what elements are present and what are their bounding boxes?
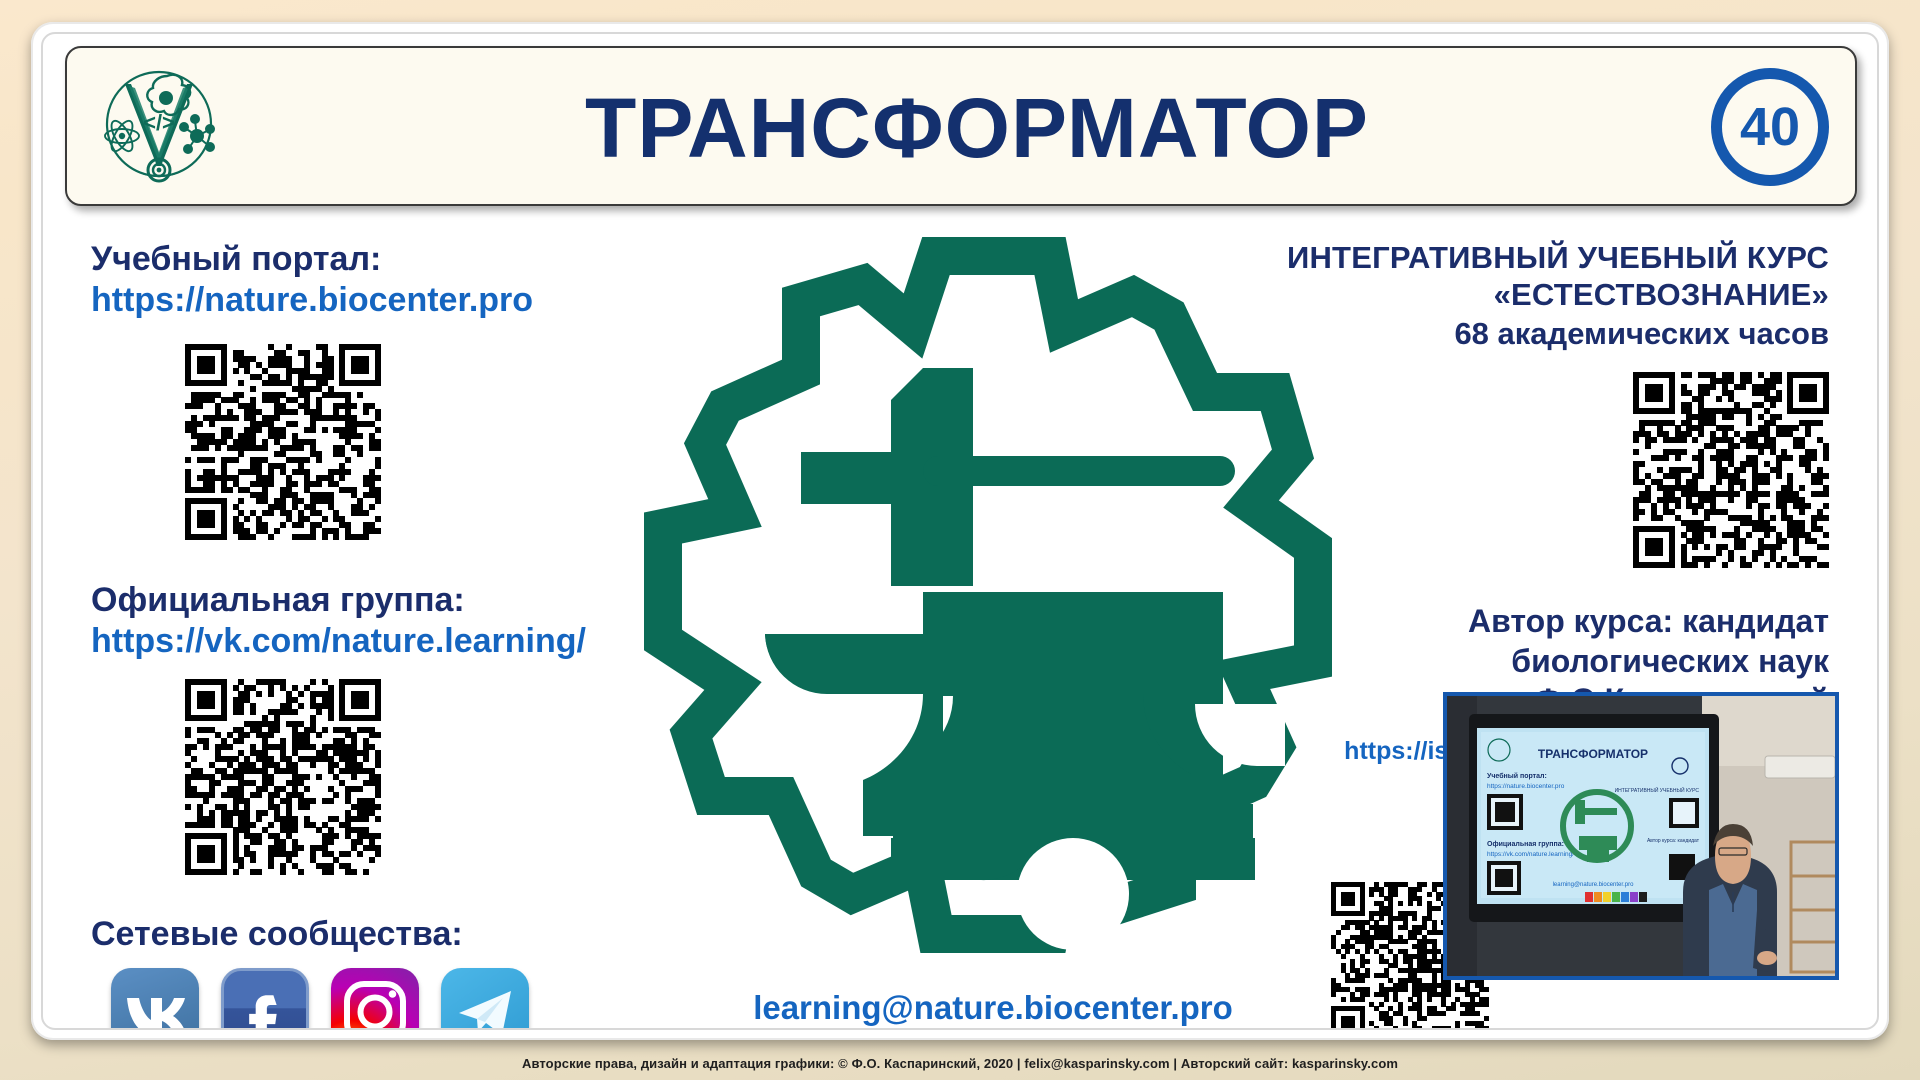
svg-text:Автор курса: кандидат: Автор курса: кандидат xyxy=(1647,838,1700,844)
lesson-number-badge: 40 xyxy=(1711,68,1829,186)
qr-code-portal[interactable] xyxy=(185,344,381,540)
left-column: Учебный портал: https://nature.biocenter… xyxy=(91,239,611,1030)
group-block: Официальная группа: https://vk.com/natur… xyxy=(91,580,611,875)
svg-text:https://vk.com/nature.learning: https://vk.com/nature.learning/ xyxy=(1487,851,1574,858)
instagram-icon[interactable] xyxy=(331,968,419,1030)
author-line-1: Автор курса: кандидат xyxy=(1209,602,1829,642)
svg-text:learning@nature.biocenter.pro: learning@nature.biocenter.pro xyxy=(1553,882,1634,888)
svg-text:https://nature.biocenter.pro: https://nature.biocenter.pro xyxy=(1487,783,1565,790)
telegram-icon[interactable] xyxy=(441,968,529,1030)
svg-text:Учебный портал:: Учебный портал: xyxy=(1487,772,1547,780)
facebook-icon[interactable] xyxy=(221,968,309,1030)
footer-bar: Авторские права, дизайн и адаптация граф… xyxy=(0,1046,1920,1080)
copyright-text: Авторские права, дизайн и адаптация граф… xyxy=(522,1056,1398,1071)
group-url-link[interactable]: https://vk.com/nature.learning/ xyxy=(91,621,611,662)
qr-code-course[interactable] xyxy=(1633,372,1829,568)
svg-text:Официальная группа:: Официальная группа: xyxy=(1487,841,1564,848)
social-heading: Сетевые сообщества: xyxy=(91,915,611,954)
science-emblem-icon: </> xyxy=(89,58,229,198)
course-title: ИНТЕГРАТИВНЫЙ УЧЕБНЫЙ КУРС «ЕСТЕСТВОЗНАН… xyxy=(1209,239,1829,313)
course-title-line1: ИНТЕГРАТИВНЫЙ УЧЕБНЫЙ КУРС xyxy=(1209,239,1829,276)
portal-url-link[interactable]: https://nature.biocenter.pro xyxy=(91,280,611,321)
course-hours: 68 академических часов xyxy=(1209,315,1829,354)
contact-email-link[interactable]: learning@nature.biocenter.pro xyxy=(623,989,1363,1027)
social-links-row xyxy=(111,968,611,1030)
svg-text:ТРАНСФОРМАТОР: ТРАНСФОРМАТОР xyxy=(1538,747,1648,761)
qr-code-vk-group[interactable] xyxy=(185,679,381,875)
group-heading: Официальная группа: xyxy=(91,580,611,621)
portal-heading: Учебный портал: xyxy=(91,239,611,280)
svg-text:</>: </> xyxy=(143,110,175,135)
presenter-photo[interactable]: ТРАНСФОРМАТОР Учебный портал: https://na… xyxy=(1443,692,1839,980)
header-bar: </> ТРАНСФОРМАТОР 40 xyxy=(65,46,1857,206)
course-title-line2: «ЕСТЕСТВОЗНАНИЕ» xyxy=(1209,276,1829,313)
author-line-2: биологических наук xyxy=(1209,642,1829,682)
svg-text:ИНТЕГРАТИВНЫЙ УЧЕБНЫЙ КУРС: ИНТЕГРАТИВНЫЙ УЧЕБНЫЙ КУРС xyxy=(1615,786,1700,794)
right-column: ИНТЕГРАТИВНЫЙ УЧЕБНЫЙ КУРС «ЕСТЕСТВОЗНАН… xyxy=(1209,239,1829,766)
slide-frame: </> ТРАНСФОРМАТОР 40 Учебный портал: htt… xyxy=(31,22,1889,1040)
vk-icon[interactable] xyxy=(111,968,199,1030)
slide-inner: </> ТРАНСФОРМАТОР 40 Учебный портал: htt… xyxy=(41,32,1879,1030)
page-title: ТРАНСФОРМАТОР xyxy=(267,48,1687,208)
